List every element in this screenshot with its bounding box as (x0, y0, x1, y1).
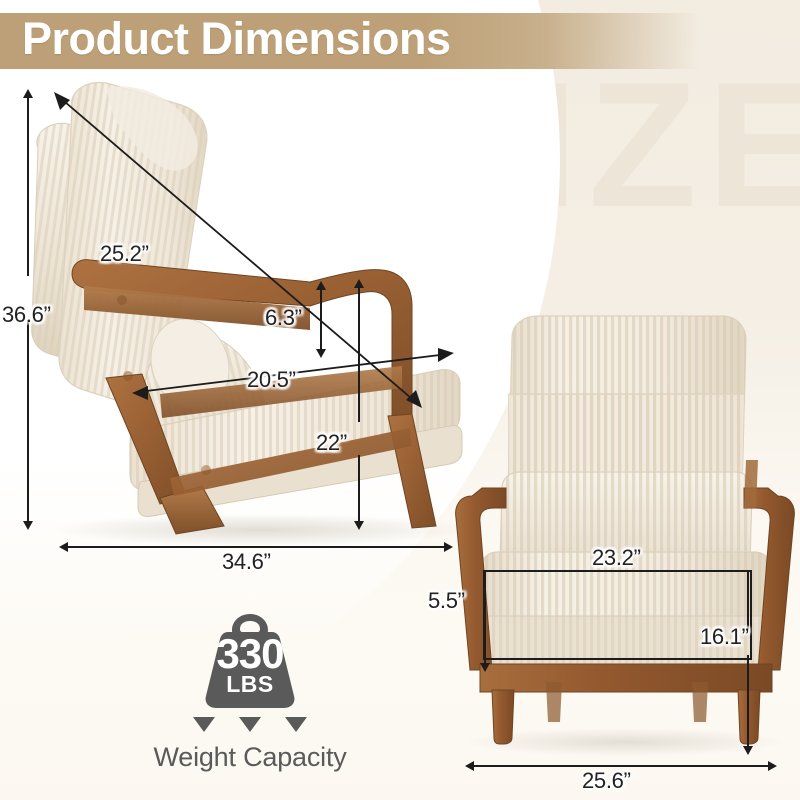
dim-line-seat-height-lower (747, 655, 749, 750)
arrow-seat-back-bottom (354, 521, 364, 530)
dim-line-seat-back-height (358, 286, 360, 422)
arrow-overall-width-left (465, 761, 474, 771)
arrow-seat-back-top (354, 279, 364, 288)
weight-capacity-block: 330 LBS Weight Capacity (150, 608, 350, 773)
dim-label-seat-width: 23.2” (592, 545, 641, 571)
dim-label-armrest-height: 6.3” (265, 305, 302, 331)
weight-capacity-caption: Weight Capacity (150, 742, 350, 773)
weight-icon: 330 LBS (184, 608, 316, 712)
product-dimensions-infographic: SIZE Product Dimensions (0, 0, 800, 800)
arrow-overall-height-bottom (23, 521, 33, 530)
dim-line-overall-height-lower (27, 320, 29, 525)
weight-unit: LBS (184, 672, 316, 696)
dim-label-cushion-thickness: 5.5” (428, 588, 465, 614)
arrow-overall-height-top (23, 89, 33, 98)
dim-line-overall-width (472, 765, 772, 767)
dim-line-cushion-thickness (484, 572, 486, 667)
weight-arrows-group (184, 717, 316, 732)
dim-line-overall-depth (66, 546, 448, 548)
dim-line-seat-back-height-lower (358, 455, 360, 525)
arrow-overall-depth-left (59, 542, 68, 552)
dim-label-overall-width: 25.6” (582, 768, 631, 794)
dim-label-seat-depth: 20.5” (247, 367, 296, 393)
page-title: Product Dimensions (22, 14, 451, 64)
weight-arrow-2 (239, 717, 261, 732)
arrow-overall-width-right (768, 761, 777, 771)
dim-label-seat-back-height: 22” (316, 430, 347, 456)
dim-line-overall-height (27, 96, 29, 276)
arrow-cushion-thickness (480, 663, 490, 672)
arrow-seat-height-bottom (743, 746, 753, 755)
weight-arrow-1 (193, 717, 215, 732)
arrow-armrest-top (316, 281, 326, 290)
dim-label-seat-height: 16.1” (700, 624, 749, 650)
weight-arrow-3 (285, 717, 307, 732)
dim-line-seat-height (747, 571, 749, 629)
dim-label-backrest-height: 25.2” (100, 241, 149, 267)
dim-label-overall-depth: 34.6” (222, 549, 271, 575)
weight-amount: 330 (184, 634, 316, 674)
